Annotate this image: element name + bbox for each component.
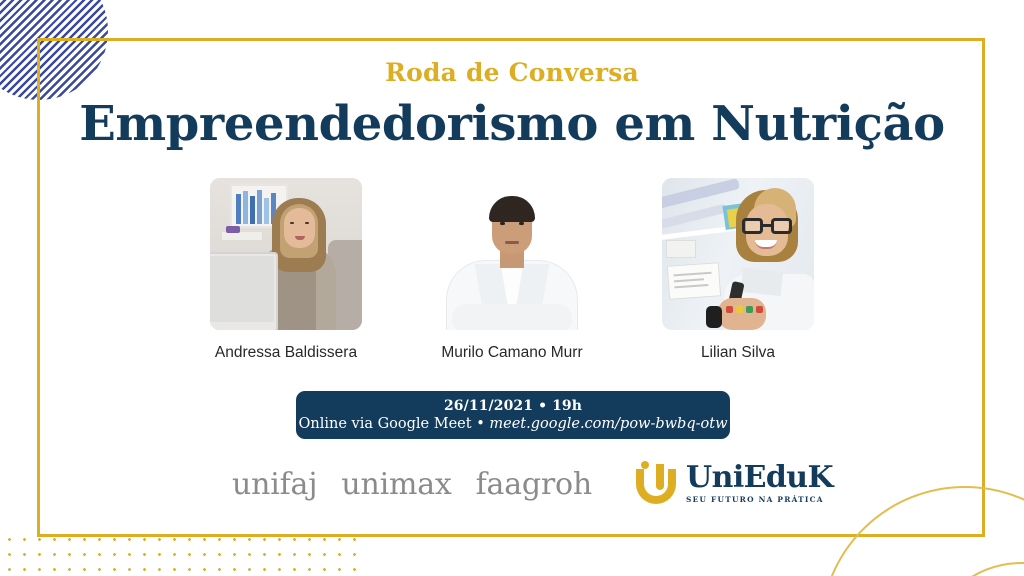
speaker-photo-andressa-baldissera: [210, 178, 362, 330]
platform-label: Online via Google Meet •: [298, 416, 489, 432]
unieduk-u-mark-icon: [634, 462, 680, 506]
logo-faagroh: faagroh: [476, 467, 592, 502]
speaker-card: Murilo Camano Murr: [412, 178, 612, 362]
speaker-name: Murilo Camano Murr: [441, 344, 582, 362]
speaker-photo-murilo-camano-murr: [436, 178, 588, 330]
event-type-label: Roda de Conversa: [0, 58, 1024, 87]
gold-dot-grid-decoration: [0, 529, 368, 576]
logo-unimax: unimax: [341, 467, 451, 502]
speaker-photo-lilian-silva: [662, 178, 814, 330]
page-title: Empreendedorismo em Nutrição: [0, 96, 1024, 152]
speaker-card: Andressa Baldissera: [186, 178, 386, 362]
logo-unieduk: UniEduK SEU FUTURO NA PRÁTICA: [634, 462, 833, 506]
event-datetime: 26/11/2021 • 19h: [444, 398, 582, 414]
logos-row: unifaj unimax faagroh UniEduK SEU FUTURO…: [232, 462, 798, 506]
unieduk-name: UniEduK: [686, 464, 833, 493]
unieduk-tagline: SEU FUTURO NA PRÁTICA: [686, 495, 833, 504]
speaker-name: Andressa Baldissera: [215, 344, 357, 362]
event-platform-line: Online via Google Meet • meet.google.com…: [298, 416, 727, 432]
inner-arc-icon: [926, 562, 1024, 576]
speaker-name: Lilian Silva: [701, 344, 775, 362]
logo-unifaj: unifaj: [232, 467, 317, 502]
speakers-row: Andressa Baldissera Murilo Camano Murr: [186, 178, 838, 368]
meeting-link[interactable]: meet.google.com/pow-bwbq-otw: [489, 416, 727, 432]
event-details-box: 26/11/2021 • 19h Online via Google Meet …: [296, 391, 730, 439]
speaker-card: Lilian Silva: [638, 178, 838, 362]
